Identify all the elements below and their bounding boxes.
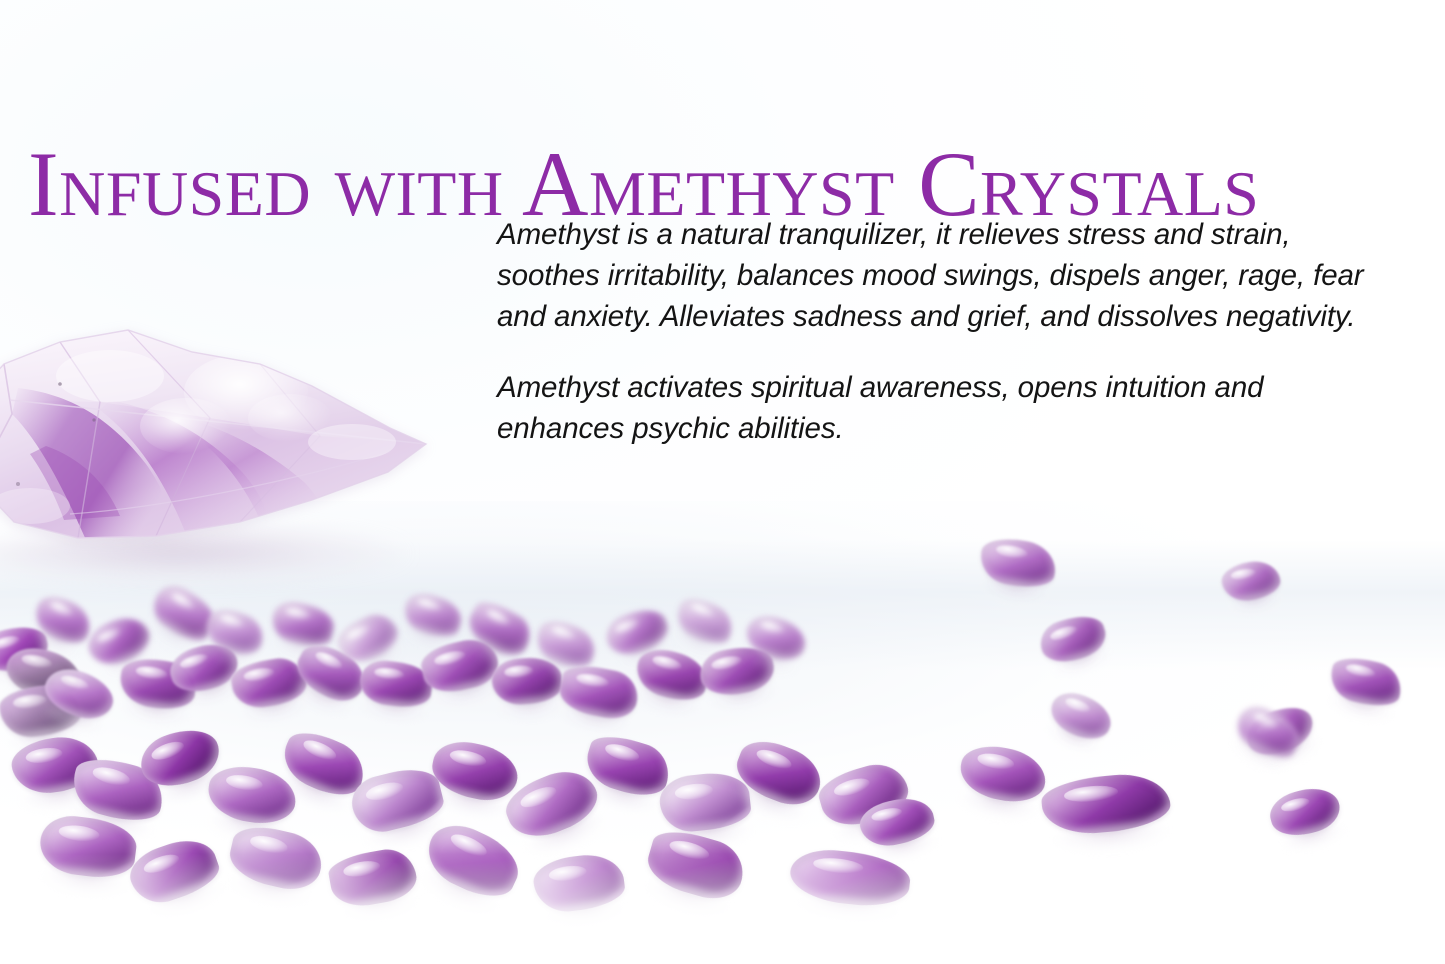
amethyst-chip xyxy=(0,682,82,740)
chip-facet xyxy=(39,662,119,725)
chip-reflection xyxy=(631,683,701,722)
amethyst-chip xyxy=(82,610,155,672)
chip-facet xyxy=(1326,652,1407,712)
amethyst-chip xyxy=(1045,686,1117,746)
chip-facet xyxy=(601,603,673,662)
chip-facet xyxy=(642,824,750,906)
chip-facet xyxy=(37,812,139,881)
chip-facet xyxy=(729,732,829,813)
chip-reflection xyxy=(20,780,102,816)
chip-reflection xyxy=(617,636,677,673)
chip-facet xyxy=(531,851,627,916)
amethyst-chip xyxy=(204,761,299,828)
amethyst-chip xyxy=(1240,698,1319,764)
chip-reflection xyxy=(272,767,352,820)
amethyst-chip xyxy=(134,720,227,796)
chip-facet xyxy=(956,740,1050,807)
chip-facet xyxy=(490,656,563,707)
chip-reflection xyxy=(542,898,627,933)
chip-reflection xyxy=(832,803,917,849)
chip-highlight xyxy=(1064,696,1092,715)
chip-facet xyxy=(1230,700,1305,765)
chip-facet xyxy=(1035,609,1111,669)
chip-facet xyxy=(531,614,602,674)
chip-highlight xyxy=(58,824,100,844)
chip-facet xyxy=(66,751,169,829)
chip-highlight xyxy=(91,764,132,788)
chip-facet xyxy=(275,723,373,805)
chip-highlight xyxy=(243,666,276,683)
amethyst-chip xyxy=(580,729,676,803)
chip-reflection xyxy=(180,674,246,712)
chip-highlight xyxy=(21,653,54,671)
chip-highlight xyxy=(248,833,289,856)
chip-highlight xyxy=(690,601,716,621)
chip-reflection xyxy=(793,892,905,927)
amethyst-chip xyxy=(358,658,435,710)
chip-highlight xyxy=(484,606,513,629)
chip-highlight xyxy=(135,664,168,681)
amethyst-chip xyxy=(326,845,420,911)
chip-facet xyxy=(289,637,372,710)
chip-facet xyxy=(1265,782,1344,843)
chip-facet xyxy=(462,595,538,663)
chip-facet xyxy=(696,641,777,700)
chip-highlight xyxy=(13,693,48,709)
description-block: Amethyst is a natural tranquilizer, it r… xyxy=(497,214,1365,449)
chip-reflection xyxy=(3,683,74,718)
chip-facet xyxy=(0,621,52,678)
chip-reflection xyxy=(580,774,661,819)
amethyst-chip xyxy=(671,591,740,651)
chip-reflection xyxy=(529,648,587,686)
chip-facet xyxy=(814,757,913,833)
chip-reflection xyxy=(668,819,753,853)
chip-highlight xyxy=(575,671,610,689)
chip-facet xyxy=(399,588,466,643)
chip-highlight xyxy=(343,859,381,879)
chip-reflection xyxy=(497,696,563,722)
chip-highlight xyxy=(285,606,313,622)
amethyst-chip xyxy=(788,846,913,910)
chip-facet xyxy=(418,634,503,698)
amethyst-chip xyxy=(201,603,269,661)
chip-facet xyxy=(28,589,98,652)
chip-highlight xyxy=(416,597,442,614)
amethyst-chip xyxy=(696,641,777,700)
chip-highlight xyxy=(674,782,713,800)
chip-facet xyxy=(427,736,522,807)
amethyst-chip xyxy=(66,751,169,829)
chip-facet xyxy=(788,846,913,910)
chip-reflection xyxy=(226,870,314,914)
chip-highlight xyxy=(668,838,711,864)
amethyst-chip xyxy=(657,769,752,834)
chip-facet xyxy=(229,654,309,711)
chip-highlight xyxy=(59,673,90,693)
chip-reflection xyxy=(1228,591,1283,617)
chip-highlight xyxy=(1064,784,1119,803)
chip-facet xyxy=(146,578,223,648)
amethyst-chip xyxy=(418,634,503,698)
chip-facet xyxy=(0,682,82,740)
amethyst-chip xyxy=(37,812,139,881)
chip-facet xyxy=(332,607,403,669)
chip-highlight xyxy=(1279,796,1310,815)
chip-reflection xyxy=(100,645,160,684)
chip-highlight xyxy=(433,648,467,667)
chip-facet xyxy=(124,831,225,911)
chip-reflection xyxy=(1050,644,1114,681)
chip-facet xyxy=(225,820,327,895)
chip-highlight xyxy=(759,619,786,637)
chip-reflection xyxy=(25,621,81,662)
chip-facet xyxy=(1040,771,1172,838)
chip-reflection xyxy=(558,703,633,738)
chip-highlight xyxy=(345,623,372,643)
amethyst-poster: Infused with Amethyst Crystals Amethyst … xyxy=(0,0,1445,964)
amethyst-chip xyxy=(427,736,522,807)
amethyst-chip xyxy=(856,793,938,851)
amethyst-chip xyxy=(631,643,713,707)
bottom-fade xyxy=(0,854,1445,964)
amethyst-chip xyxy=(1040,771,1172,838)
chip-facet xyxy=(165,637,243,699)
chip-reflection xyxy=(869,831,940,865)
chip-highlight xyxy=(651,654,683,674)
amethyst-chip xyxy=(1230,700,1305,765)
amethyst-chip xyxy=(462,595,538,663)
chip-reflection xyxy=(1259,732,1324,775)
chip-facet xyxy=(556,661,642,723)
chip-highlight xyxy=(219,613,245,631)
chip-reflection xyxy=(240,695,311,727)
amethyst-chip xyxy=(399,588,466,643)
chip-facet xyxy=(2,643,84,703)
chip-reflection xyxy=(67,800,155,847)
chip-facet xyxy=(1219,558,1282,605)
chip-reflection xyxy=(141,611,201,659)
chip-reflection xyxy=(1326,691,1395,727)
chip-facet xyxy=(9,732,102,797)
chip-reflection xyxy=(429,783,512,824)
chip-highlight xyxy=(832,775,871,799)
chip-facet xyxy=(358,658,435,710)
chip-highlight xyxy=(313,649,345,673)
chip-reflection xyxy=(415,863,505,924)
chip-facet xyxy=(347,762,448,838)
chip-reflection xyxy=(360,697,428,725)
chip-reflection xyxy=(458,629,519,675)
amethyst-chip xyxy=(268,597,338,651)
chip-highlight xyxy=(1254,715,1285,737)
chip-facet xyxy=(82,610,155,672)
chip-facet xyxy=(204,761,299,828)
amethyst-chip xyxy=(0,621,52,678)
chip-reflection xyxy=(741,644,799,679)
chip-highlight xyxy=(504,665,534,679)
chip-highlight xyxy=(169,590,197,614)
chip-highlight xyxy=(711,654,744,672)
amethyst-chip xyxy=(642,824,750,906)
amethyst-chip xyxy=(418,815,528,907)
chip-highlight xyxy=(301,737,339,764)
chip-facet xyxy=(134,720,227,796)
amethyst-chip xyxy=(9,732,102,797)
chip-reflection xyxy=(1043,720,1103,758)
chip-highlight xyxy=(0,634,21,651)
chip-reflection xyxy=(642,875,734,925)
amethyst-chip xyxy=(39,662,119,725)
chip-highlight xyxy=(225,772,264,792)
amethyst-chip xyxy=(1219,558,1282,605)
chip-highlight xyxy=(374,666,405,681)
amethyst-chip xyxy=(814,757,913,833)
chip-facet xyxy=(977,534,1060,592)
chip-reflection xyxy=(350,640,408,680)
paragraph-benefits: Amethyst is a natural tranquilizer, it r… xyxy=(497,214,1365,337)
chip-facet xyxy=(201,603,269,661)
chip-reflection xyxy=(207,809,291,846)
chip-reflection xyxy=(668,623,724,662)
chip-reflection xyxy=(522,807,610,863)
chip-highlight xyxy=(179,652,210,671)
chip-reflection xyxy=(708,681,779,715)
chip-reflection xyxy=(398,620,454,654)
chip-highlight xyxy=(150,739,186,763)
chip-reflection xyxy=(0,657,54,690)
amethyst-chip xyxy=(977,534,1060,592)
chip-highlight xyxy=(812,856,864,875)
amethyst-chip xyxy=(490,656,563,707)
amethyst-chip xyxy=(225,820,327,895)
amethyst-chip xyxy=(28,589,98,652)
chip-facet xyxy=(671,591,740,651)
chip-highlight xyxy=(755,746,794,772)
amethyst-chip xyxy=(146,578,223,648)
amethyst-chip xyxy=(2,643,84,703)
chip-facet xyxy=(1045,686,1117,746)
amethyst-chip xyxy=(1326,652,1407,712)
amethyst-chip xyxy=(347,762,448,838)
chip-facet xyxy=(1240,698,1319,764)
chip-facet xyxy=(117,654,200,713)
amethyst-chip xyxy=(729,732,829,813)
crystal-point-body xyxy=(0,268,480,568)
amethyst-chip xyxy=(165,637,243,699)
chip-highlight xyxy=(518,783,559,811)
amethyst-chip xyxy=(117,654,200,713)
chip-highlight xyxy=(614,617,642,636)
chip-highlight xyxy=(364,779,404,802)
chip-highlight xyxy=(1048,623,1078,642)
chip-highlight xyxy=(871,806,904,824)
chip-reflection xyxy=(978,574,1051,607)
chip-highlight xyxy=(977,751,1015,771)
chip-highlight xyxy=(141,851,181,876)
chip-reflection xyxy=(199,637,255,673)
chip-reflection xyxy=(432,676,505,713)
chip-reflection xyxy=(1280,819,1347,855)
paragraph-spiritual: Amethyst activates spiritual awareness, … xyxy=(497,367,1365,449)
chip-reflection xyxy=(154,763,231,811)
chip-reflection xyxy=(268,632,328,664)
chip-highlight xyxy=(1344,662,1376,680)
chip-highlight xyxy=(48,599,74,620)
amethyst-chip xyxy=(531,851,627,916)
chip-highlight xyxy=(995,543,1028,560)
chip-facet xyxy=(326,845,420,911)
amethyst-chip xyxy=(229,654,309,711)
chip-facet xyxy=(580,729,676,803)
chip-reflection xyxy=(40,864,131,901)
chip-reflection xyxy=(1052,820,1172,856)
amethyst-chip xyxy=(1035,609,1111,669)
chip-reflection xyxy=(1228,733,1289,776)
chip-facet xyxy=(499,761,605,847)
chip-facet xyxy=(418,815,528,907)
chip-facet xyxy=(657,769,752,834)
chip-reflection xyxy=(119,697,191,730)
chip-highlight xyxy=(548,864,587,883)
amethyst-chip xyxy=(275,723,373,805)
amethyst-chip xyxy=(531,614,602,674)
amethyst-chip xyxy=(601,603,673,662)
chip-highlight xyxy=(1231,567,1257,581)
chip-highlight xyxy=(448,830,490,860)
amethyst-chip xyxy=(289,637,372,710)
chip-reflection xyxy=(144,877,229,927)
amethyst-chip xyxy=(741,610,810,667)
chip-facet xyxy=(631,643,713,707)
chip-reflection xyxy=(286,675,353,723)
chip-reflection xyxy=(364,810,451,855)
chip-highlight xyxy=(1251,711,1280,732)
amethyst-chip xyxy=(332,607,403,669)
amethyst-chip xyxy=(1265,782,1344,843)
chip-facet xyxy=(856,793,938,851)
chip-facet xyxy=(268,597,338,651)
chip-facet xyxy=(741,610,810,667)
amethyst-crystal-point xyxy=(0,268,480,568)
chip-reflection xyxy=(958,786,1040,825)
chip-reflection xyxy=(38,700,105,739)
chip-highlight xyxy=(550,624,577,643)
amethyst-chip xyxy=(124,831,225,911)
chip-reflection xyxy=(727,779,810,831)
chip-highlight xyxy=(95,625,123,645)
chip-highlight xyxy=(25,746,63,765)
chip-highlight xyxy=(604,741,642,764)
amethyst-chip xyxy=(956,740,1050,807)
amethyst-chip xyxy=(499,761,605,847)
amethyst-chip xyxy=(556,661,642,723)
chip-reflection xyxy=(339,890,421,927)
chip-highlight xyxy=(449,747,487,768)
chip-reflection xyxy=(7,726,83,757)
